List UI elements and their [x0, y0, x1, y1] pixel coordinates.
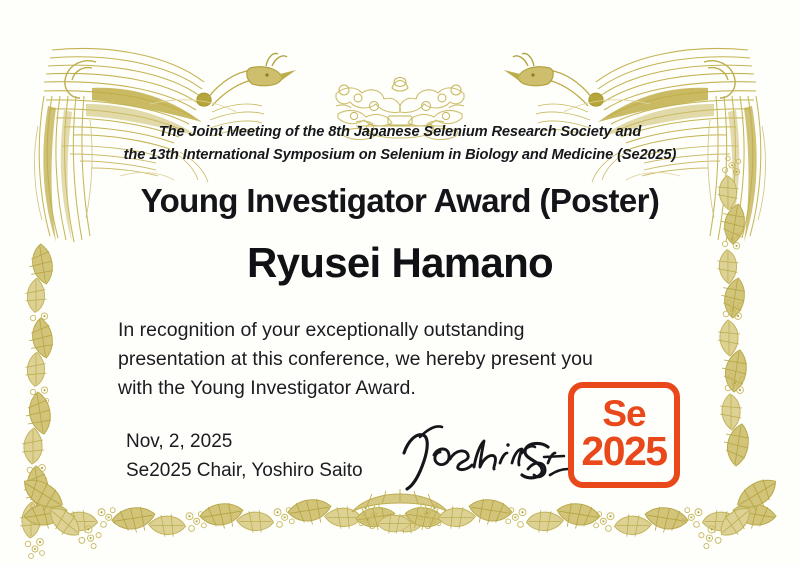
certificate: The Joint Meeting of the 8th Japanese Se… — [0, 0, 800, 566]
issue-date: Nov, 2, 2025 — [126, 431, 232, 453]
citation-line-2: presentation at this conference, we here… — [118, 345, 588, 374]
se2025-logo: Se 2025 — [568, 382, 680, 488]
se2025-logo-element: Se — [602, 397, 645, 432]
handwritten-signature — [398, 419, 570, 491]
recipient-name: Ryusei Hamano — [0, 239, 800, 287]
citation-text: In recognition of your exceptionally out… — [118, 316, 588, 403]
citation-line-1: In recognition of your exceptionally out… — [118, 316, 588, 345]
award-title: Young Investigator Award (Poster) — [0, 182, 800, 220]
certificate-content: The Joint Meeting of the 8th Japanese Se… — [0, 0, 800, 566]
se2025-logo-year: 2025 — [581, 432, 666, 471]
signatory-line: Se2025 Chair, Yoshiro Saito — [126, 460, 363, 482]
citation-line-3: with the Young Investigator Award. — [118, 374, 588, 403]
conference-header-line-1: The Joint Meeting of the 8th Japanese Se… — [0, 124, 800, 140]
conference-header-line-2: the 13th International Symposium on Sele… — [0, 147, 800, 163]
